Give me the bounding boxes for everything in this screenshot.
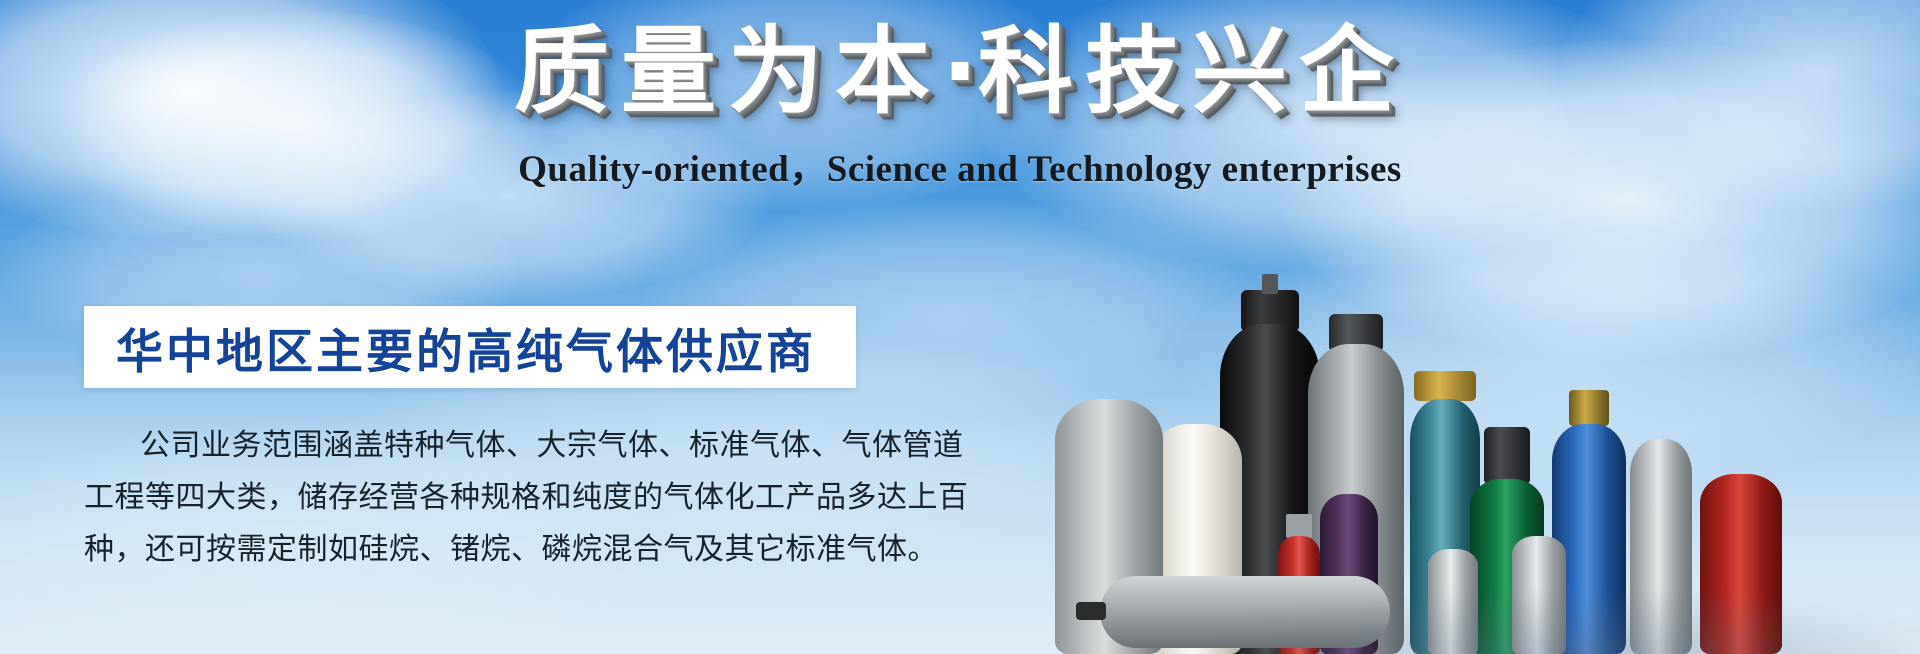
highlight-box-text: 华中地区主要的高纯气体供应商 bbox=[84, 313, 816, 382]
headline-part-2: 科技兴企 bbox=[978, 17, 1406, 127]
cylinder-valve bbox=[1262, 274, 1278, 294]
description-line-3: 种，还可按需定制如硅烷、锗烷、磷烷混合气及其它标准气体。 bbox=[84, 524, 874, 576]
cylinder-cap bbox=[1484, 427, 1530, 483]
cylinder-valve bbox=[1569, 390, 1609, 426]
cylinder-valve bbox=[1414, 371, 1476, 401]
gas-cylinders-group bbox=[1160, 234, 1920, 654]
description-line-1: 公司业务范围涵盖特种气体、大宗气体、标准气体、气体管道 bbox=[84, 420, 874, 472]
tank-valve bbox=[1076, 602, 1106, 620]
description-line-2: 工程等四大类，储存经营各种规格和纯度的气体化工产品多达上百 bbox=[84, 472, 874, 524]
banner-headline: 质量为本·科技兴企 bbox=[0, 18, 1920, 127]
promotional-banner: 质量为本·科技兴企 Quality-oriented，Science and T… bbox=[0, 0, 1920, 654]
banner-subheadline: Quality-oriented，Science and Technology … bbox=[0, 138, 1920, 192]
banner-description: 公司业务范围涵盖特种气体、大宗气体、标准气体、气体管道 工程等四大类，储存经营各… bbox=[84, 420, 874, 576]
headline-part-1: 质量为本 bbox=[514, 17, 942, 127]
highlight-box: 华中地区主要的高纯气体供应商 bbox=[84, 306, 856, 388]
cylinder-ground-shadow bbox=[1160, 584, 1920, 654]
cylinder-valve bbox=[1286, 514, 1312, 538]
headline-separator-dot: · bbox=[942, 17, 978, 127]
